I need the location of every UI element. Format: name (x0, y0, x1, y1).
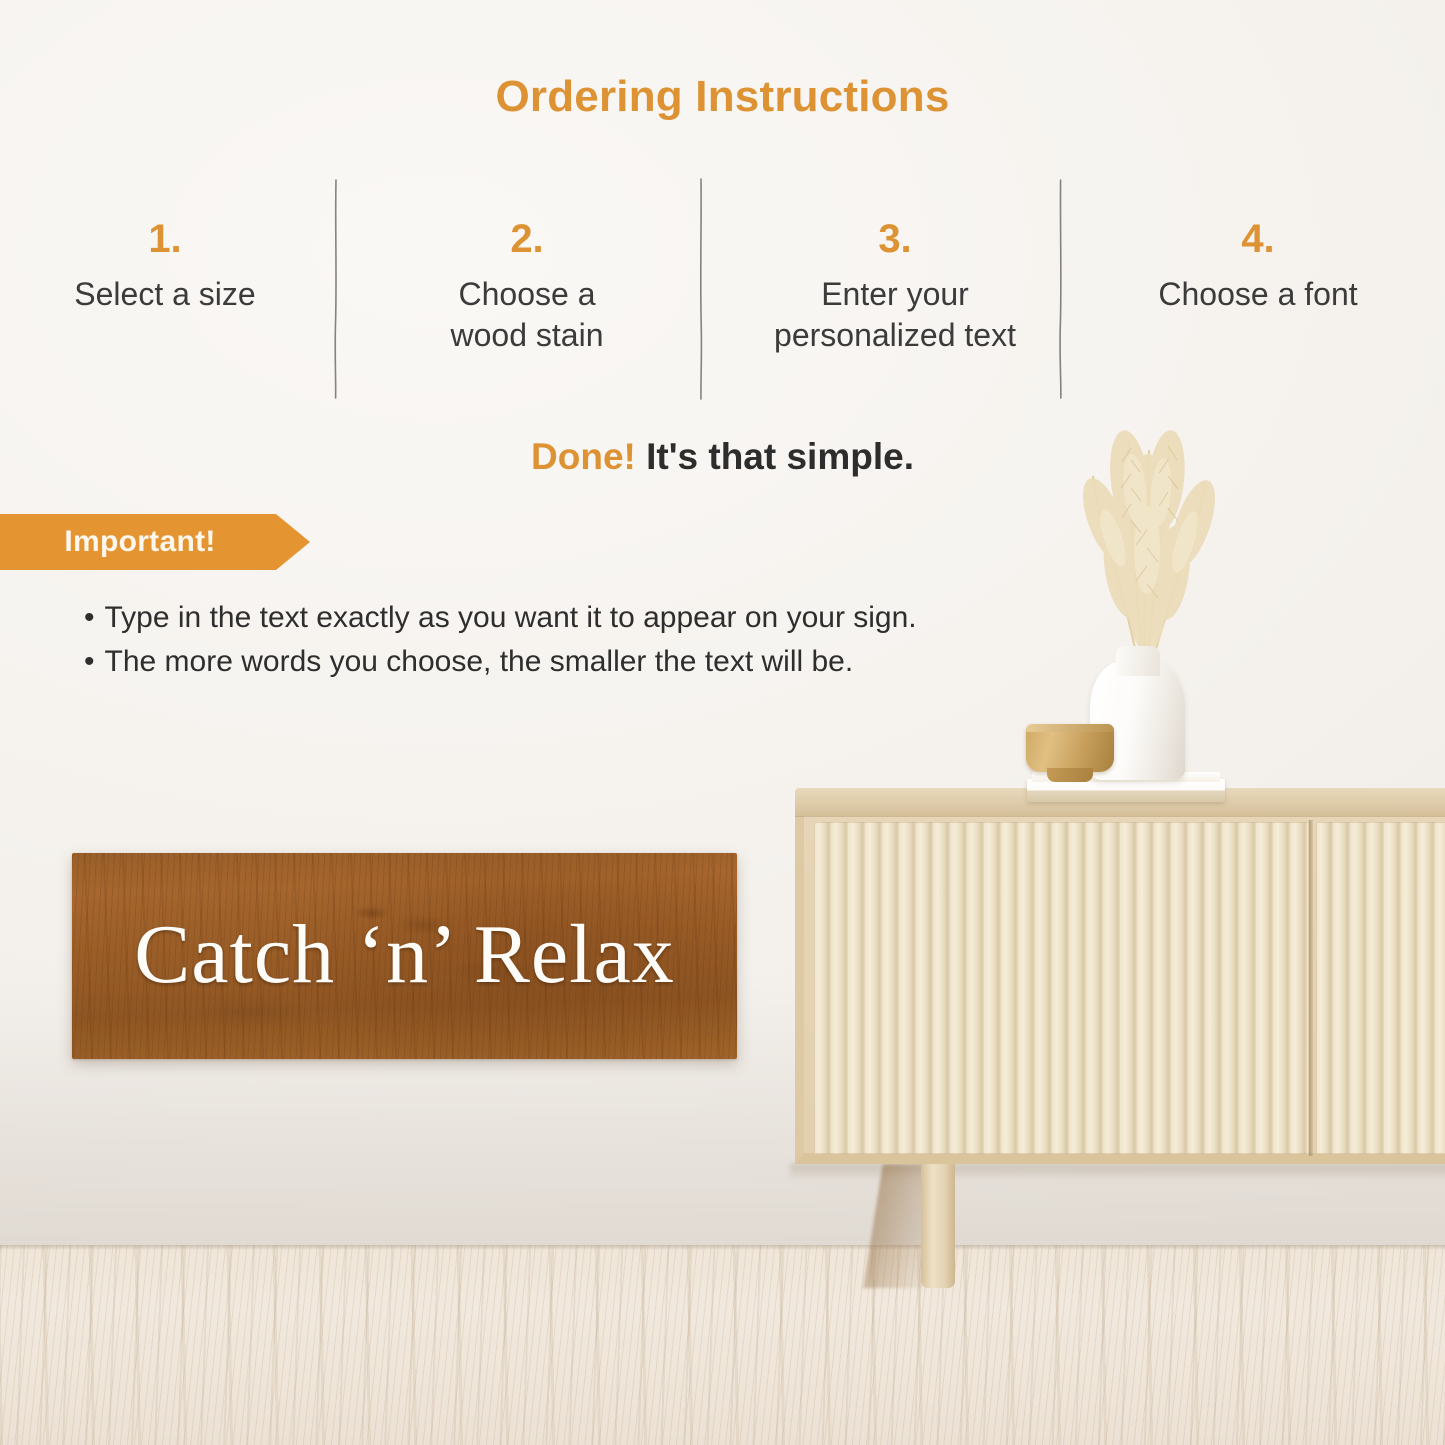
step-2-number: 2. (382, 218, 672, 260)
step-1-number: 1. (20, 218, 310, 260)
step-3-label: Enter your personalized text (730, 274, 1060, 356)
step-divider-1 (333, 178, 337, 400)
step-2-label: Choose a wood stain (382, 274, 672, 356)
bullet-marker-1: • (84, 601, 95, 634)
bullet-text-2: The more words you choose, the smaller t… (105, 645, 854, 678)
instructions-overlay: Ordering Instructions 1. Select a size 2… (0, 0, 1445, 1445)
important-ribbon: Important! (0, 514, 310, 570)
done-rest: It's that simple. (636, 436, 914, 477)
step-2: 2. Choose a wood stain (382, 218, 672, 408)
bullet-marker-2: • (84, 645, 95, 678)
bullet-text-1: Type in the text exactly as you want it … (105, 601, 917, 634)
page-title: Ordering Instructions (0, 72, 1445, 122)
steps-row: 1. Select a size 2. Choose a wood stain … (0, 218, 1445, 408)
important-bullet-list: •Type in the text exactly as you want it… (84, 596, 1144, 684)
done-highlight: Done! (531, 436, 636, 477)
done-line: Done! It's that simple. (0, 436, 1445, 478)
step-4-number: 4. (1098, 218, 1418, 260)
bullet-item-1: •Type in the text exactly as you want it… (84, 596, 1144, 640)
bullet-item-2: •The more words you choose, the smaller … (84, 640, 1144, 684)
step-divider-3 (1058, 178, 1062, 400)
step-1: 1. Select a size (20, 218, 310, 408)
step-divider-2 (698, 178, 702, 400)
step-3: 3. Enter your personalized text (730, 218, 1060, 408)
step-3-number: 3. (730, 218, 1060, 260)
important-ribbon-label: Important! (0, 514, 276, 570)
screenshot-canvas: Catch ‘n’ Relax Ordering Instructions 1.… (0, 0, 1445, 1445)
step-4: 4. Choose a font (1098, 218, 1418, 408)
step-1-label: Select a size (20, 274, 310, 315)
step-4-label: Choose a font (1098, 274, 1418, 315)
